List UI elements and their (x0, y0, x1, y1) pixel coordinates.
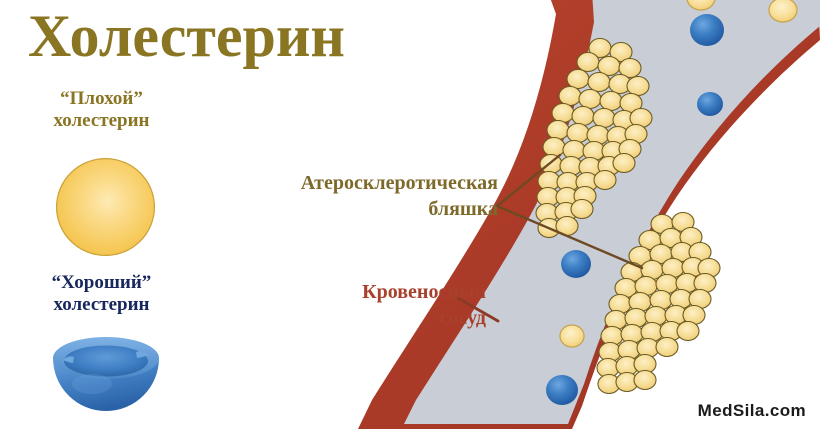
bad-cholesterol-label: “Плохой” холестерин (14, 88, 189, 132)
bad-cholesterol-label-line2: холестерин (14, 110, 189, 132)
hdl-particle (561, 250, 591, 278)
hdl-particle (697, 92, 723, 116)
bad-cholesterol-label-line1: “Плохой” (14, 88, 189, 110)
hdl-bowl-icon (48, 330, 164, 418)
ldl-sphere-icon (56, 158, 155, 256)
watermark: MedSila.com (698, 401, 806, 421)
plaque-annotation-line2: бляшка (236, 196, 498, 222)
vessel-annotation-line2: сосуд (280, 305, 486, 331)
vessel-annotation: Кровеносный сосуд (280, 279, 486, 331)
vessel-annotation-line1: Кровеносный (280, 279, 486, 305)
hdl-particle (546, 375, 578, 405)
ldl-particle (560, 325, 584, 347)
hdl-particle (690, 14, 724, 46)
infographic-canvas: Холестерин “Плохой” холестерин “Хороший”… (0, 0, 820, 429)
plaque-annotation: Атеросклеротическая бляшка (236, 170, 498, 222)
ldl-particle (769, 0, 797, 22)
good-cholesterol-label: “Хороший” холестерин (14, 272, 189, 316)
page-title: Холестерин (28, 4, 345, 68)
good-cholesterol-label-line1: “Хороший” (14, 272, 189, 294)
good-cholesterol-label-line2: холестерин (14, 294, 189, 316)
plaque-annotation-line1: Атеросклеротическая (236, 170, 498, 196)
